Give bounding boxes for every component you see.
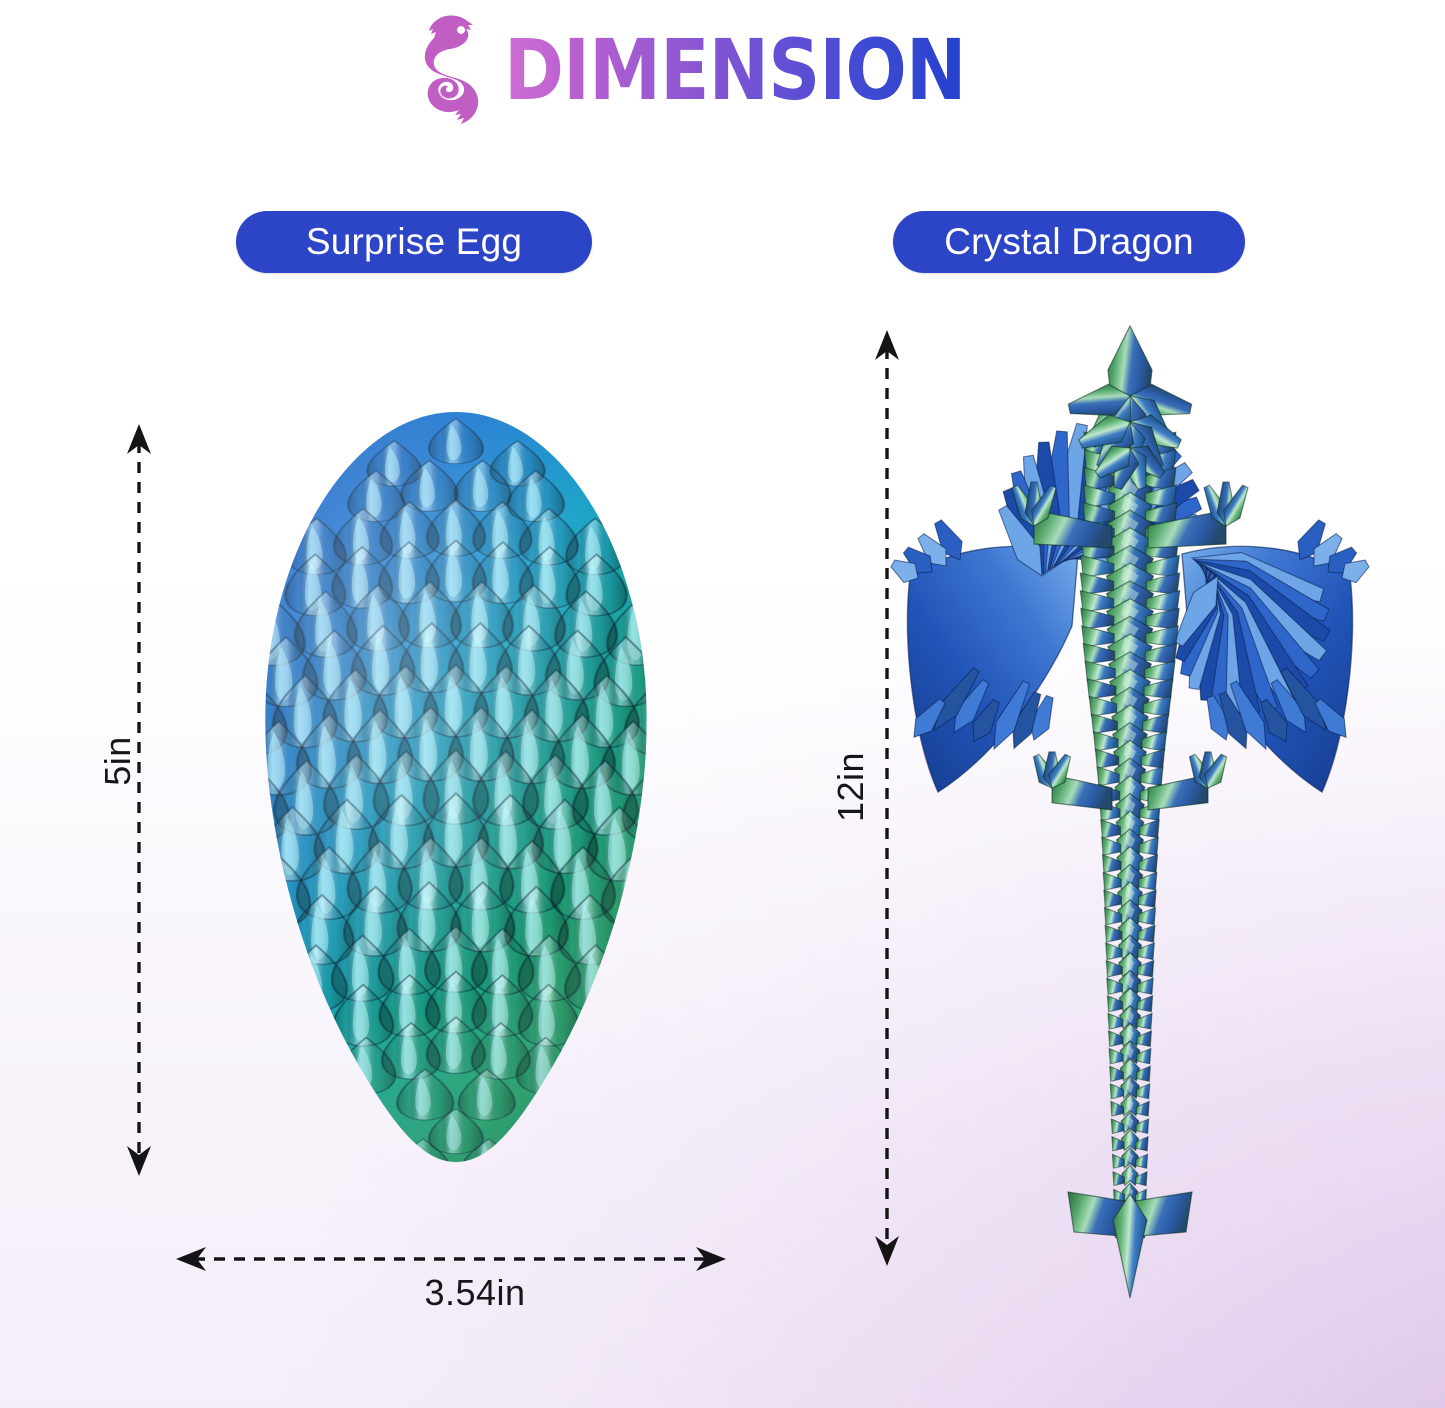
product-label-surprise-egg: Surprise Egg [236, 211, 592, 273]
product-label-crystal-dragon: Crystal Dragon [893, 211, 1245, 273]
product-label-text: Surprise Egg [306, 221, 522, 263]
egg-height-value: 5in [97, 736, 139, 786]
egg-width-label: 3.54in [300, 1272, 650, 1314]
product-label-text: Crystal Dragon [944, 221, 1194, 263]
dragon-icon [404, 12, 490, 130]
egg-height-arrow [124, 424, 154, 1176]
surprise-egg-image [196, 406, 716, 1220]
dragon-wing-right [1167, 516, 1372, 792]
brand-header: DIMENSION [0, 12, 1445, 130]
brand-wordmark: DIMENSION [504, 32, 966, 109]
dragon-height-value: 12in [830, 752, 872, 822]
crystal-dragon-image [915, 318, 1345, 1290]
dragon-height-label: 12in [786, 766, 916, 808]
dimension-infographic: DIMENSION Surprise Egg Crystal Dragon [0, 0, 1445, 1408]
egg-height-label: 5in [58, 740, 178, 782]
egg-width-arrow [176, 1244, 726, 1274]
